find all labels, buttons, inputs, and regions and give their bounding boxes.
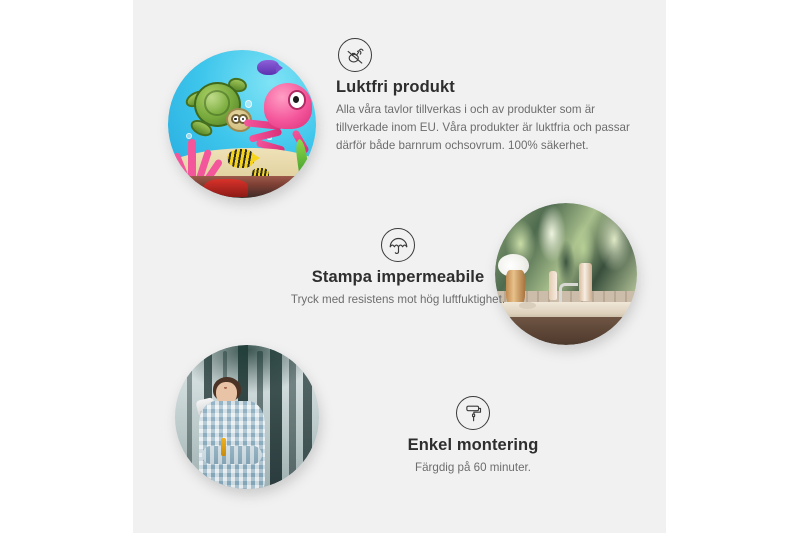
feature-description: Färgdig på 60 minuter. xyxy=(323,459,623,477)
no-odour-icon xyxy=(338,38,372,72)
feature-title: Luktfri produkt xyxy=(336,78,634,97)
feature-block-waterproof: Stampa impermeabile Tryck med resistens … xyxy=(213,228,583,309)
feature-title: Stampa impermeabile xyxy=(213,268,583,287)
painter-forest-photo xyxy=(175,345,319,489)
red-rock xyxy=(204,179,248,197)
feature-title: Enkel montering xyxy=(323,436,623,455)
woman-painter xyxy=(192,377,273,489)
feature-description: Alla våra tavlor tillverkas i och av pro… xyxy=(336,101,634,155)
product-feature-infographic: Luktfri produkt Alla våra tavlor tillver… xyxy=(0,0,800,533)
purple-fish xyxy=(257,60,279,75)
sea-turtle xyxy=(189,80,251,136)
yellow-striped-fish xyxy=(227,149,254,168)
feature-block-easy-install: Enkel montering Färgdig på 60 minuter. xyxy=(323,396,623,477)
wooden-cabinet xyxy=(509,317,637,345)
umbrella-icon xyxy=(381,228,415,262)
underwater-cartoon-photo xyxy=(168,50,316,198)
feature-description: Tryck med resistens mot hög luftfuktighe… xyxy=(213,291,583,309)
paint-roller-icon xyxy=(456,396,490,430)
infographic-canvas: Luktfri produkt Alla våra tavlor tillver… xyxy=(133,0,666,533)
feature-block-odourless: Luktfri produkt Alla våra tavlor tillver… xyxy=(336,38,634,155)
